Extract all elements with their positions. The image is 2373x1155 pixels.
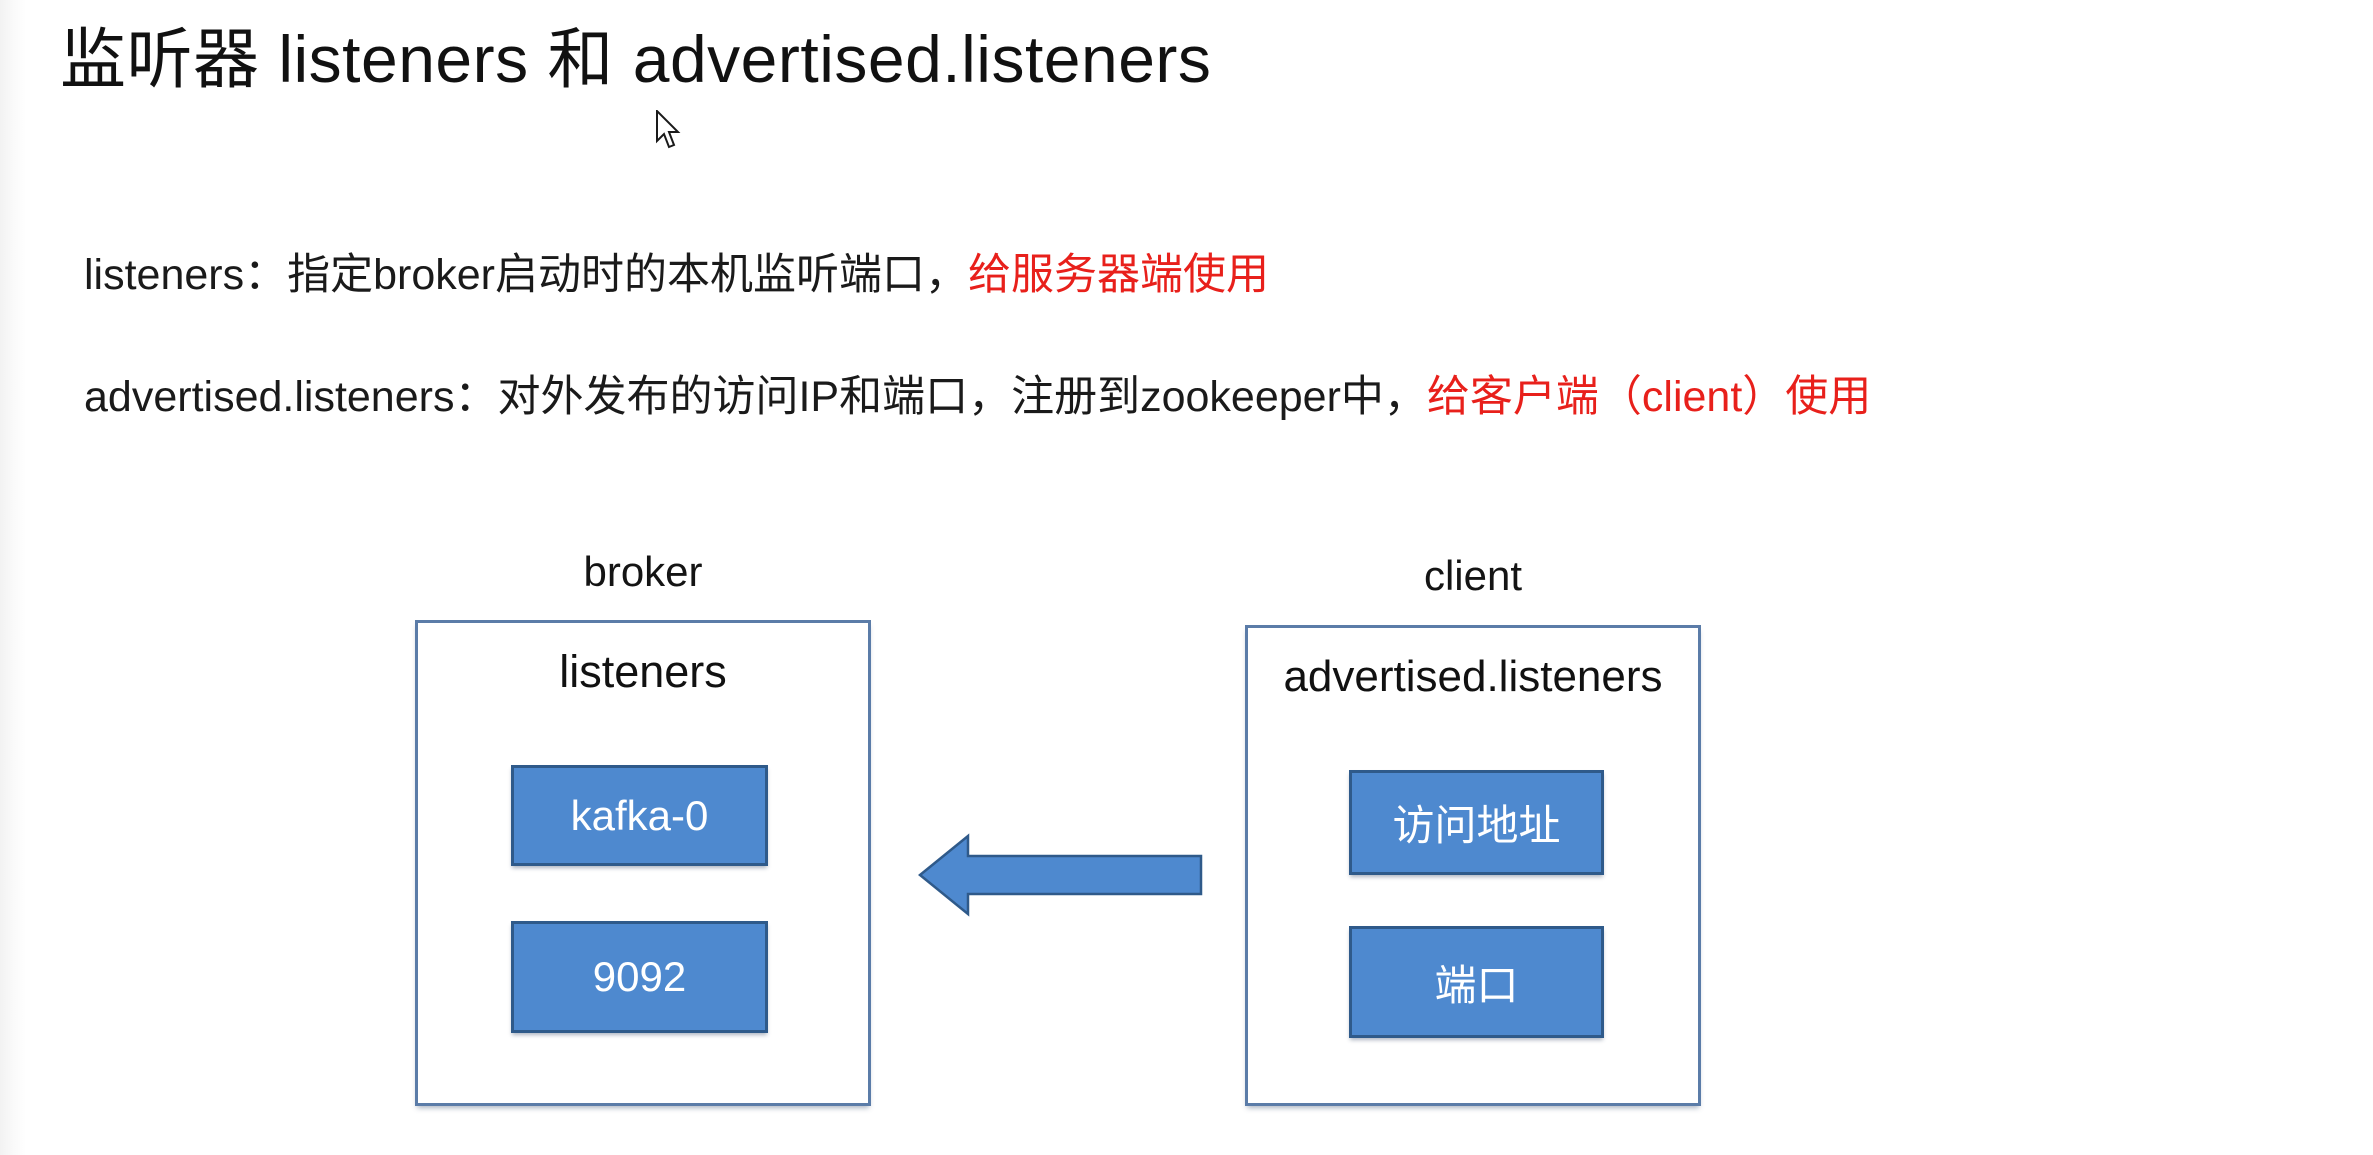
broker-box: listeners kafka-0 9092 [415,620,871,1106]
slide-canvas: 监听器 listeners 和 advertised.listeners lis… [0,0,2373,1155]
arrow-left-icon [920,830,1202,920]
client-box: advertised.listeners 访问地址 端口 [1245,625,1701,1106]
broker-item-host: kafka-0 [511,765,768,866]
client-item-port: 端口 [1349,926,1604,1038]
client-item-address: 访问地址 [1349,770,1604,875]
group-caption-client: client [1245,552,1701,600]
client-box-heading: advertised.listeners [1248,652,1698,702]
diagram: broker listeners kafka-0 9092 client adv… [0,0,2373,1155]
broker-box-heading: listeners [418,646,868,698]
broker-item-port: 9092 [511,921,768,1033]
group-caption-broker: broker [415,548,871,596]
